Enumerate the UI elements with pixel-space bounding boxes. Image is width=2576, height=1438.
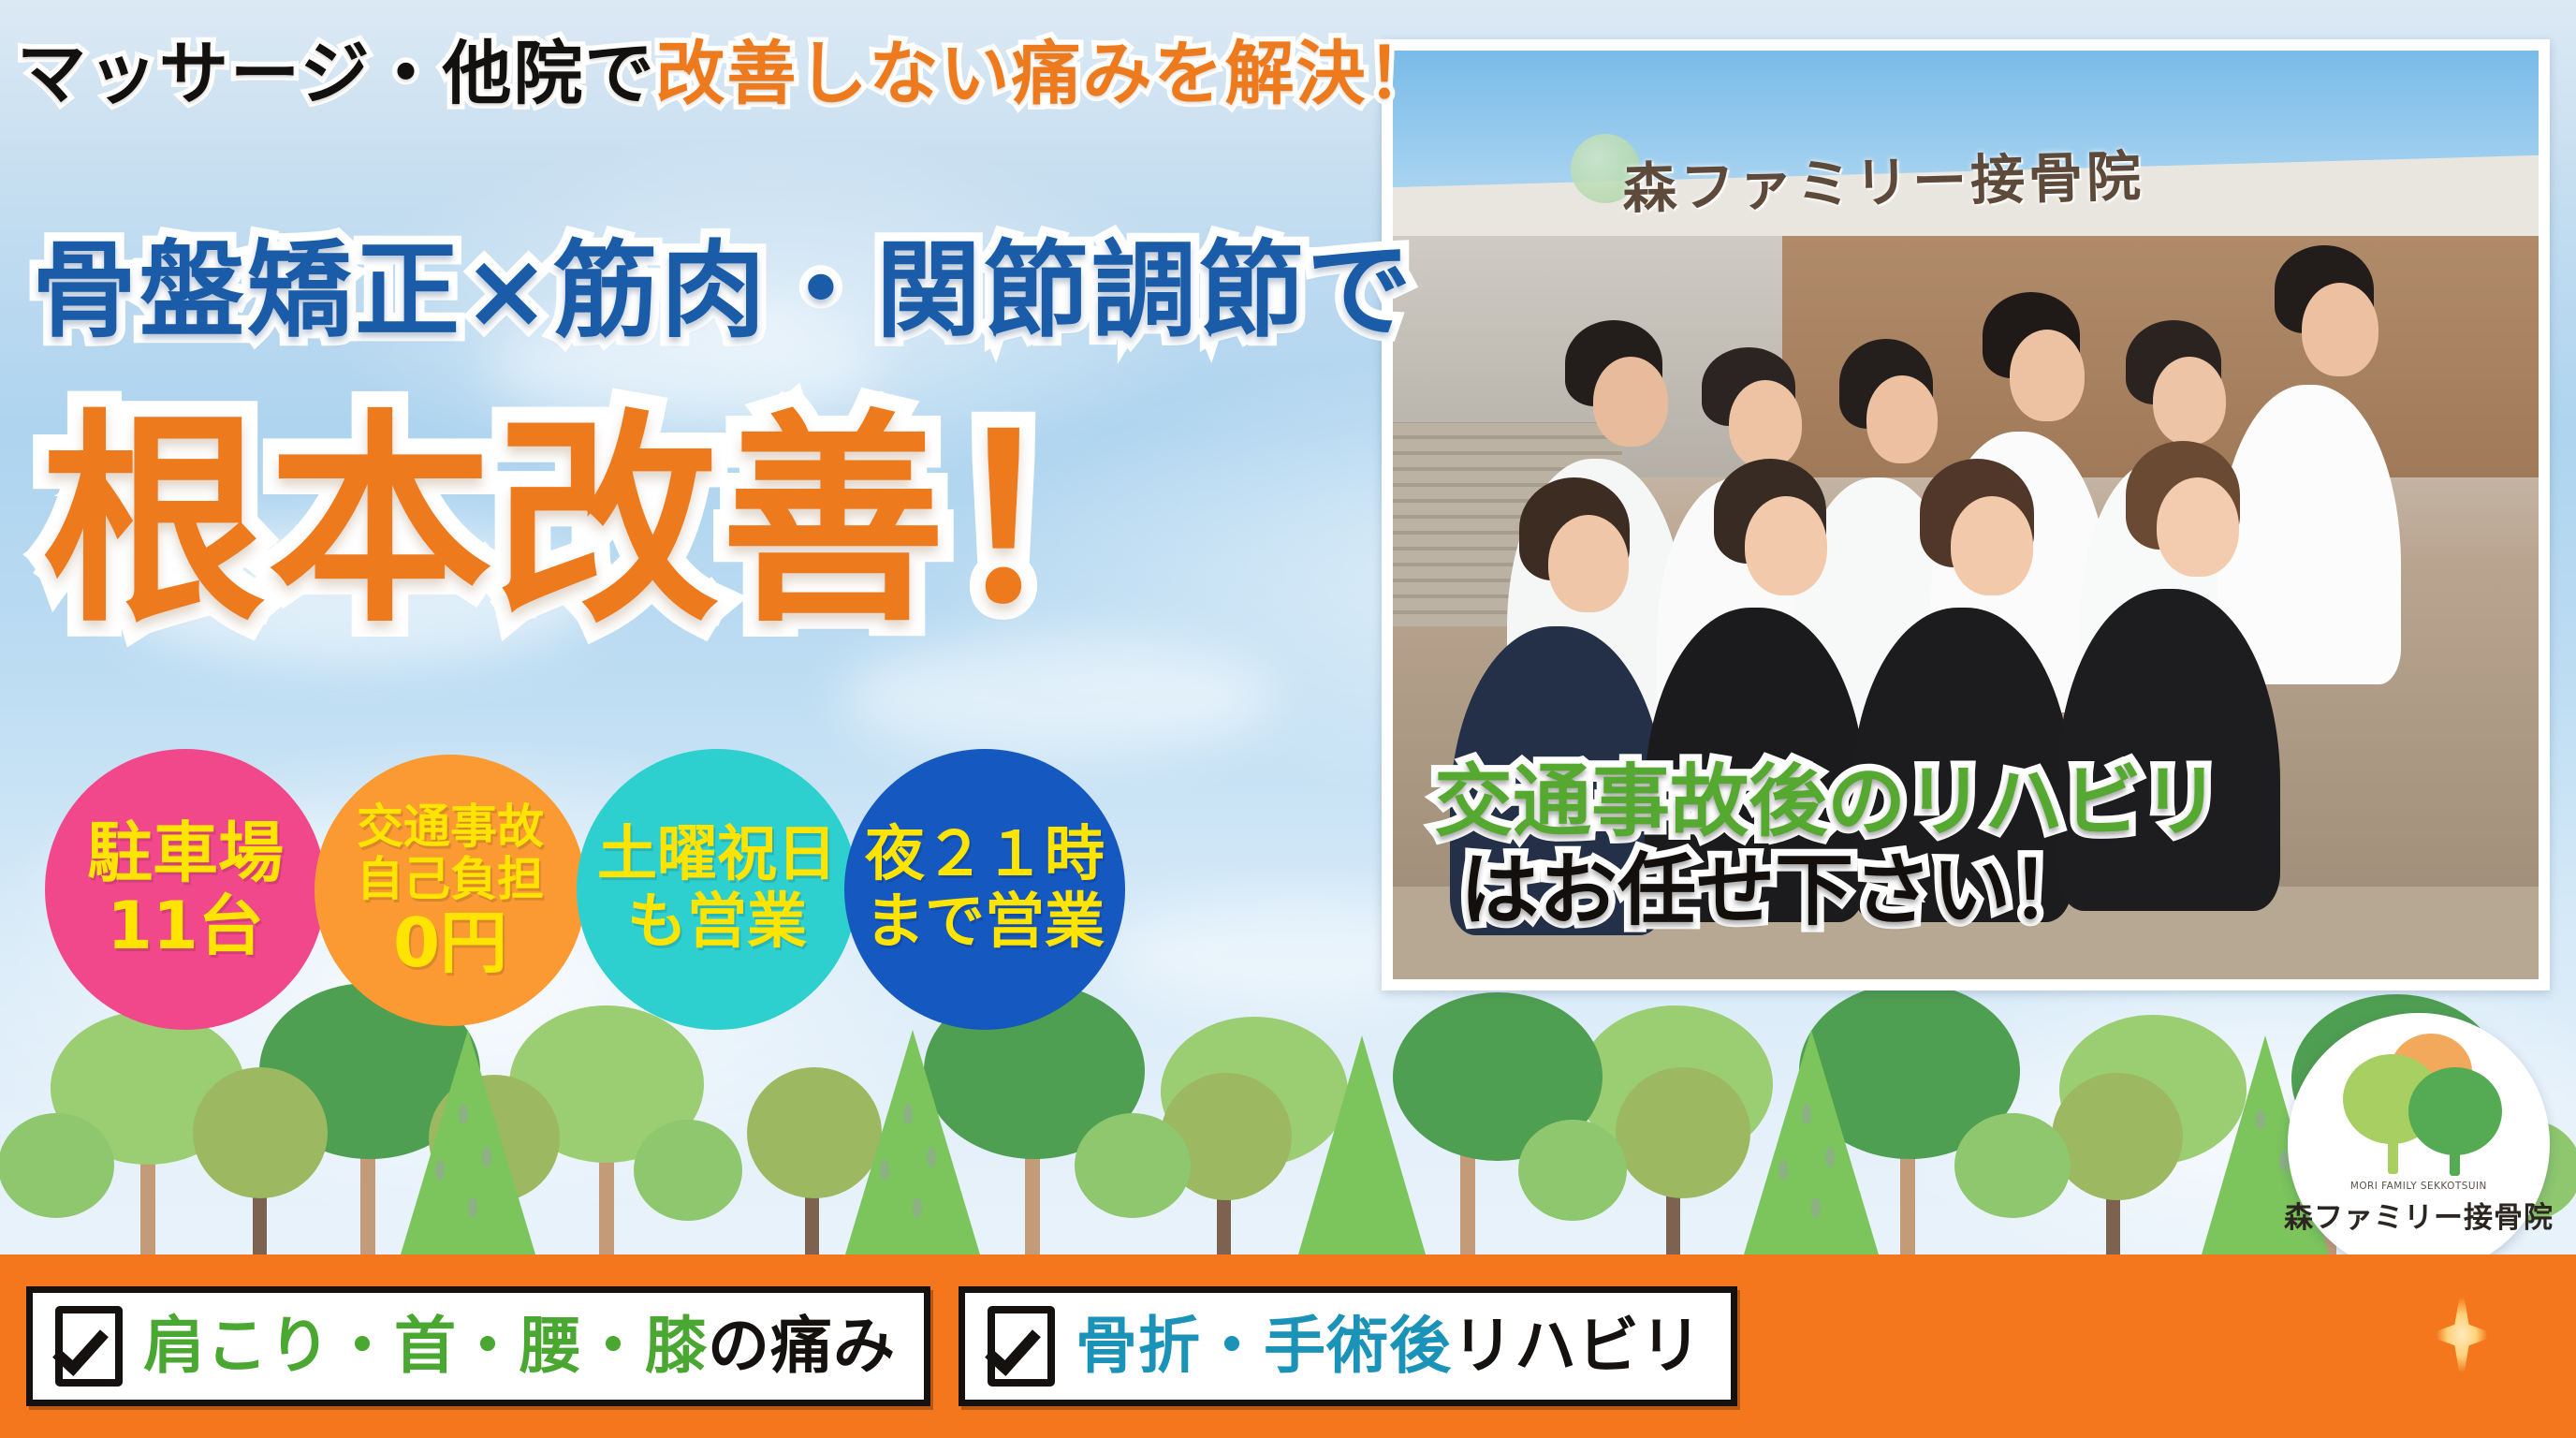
clinic-logo-badge: MORI FAMILY SEKKOTSUIN 森ファミリー接骨院 bbox=[2288, 1013, 2550, 1275]
badge-line: 夜２１時 bbox=[865, 822, 1105, 889]
staff-photo-frame: 森ファミリー接骨院 bbox=[1382, 39, 2550, 990]
badge-line: まで営業 bbox=[865, 889, 1105, 957]
staff-head bbox=[1745, 496, 1827, 595]
staff-head bbox=[2010, 330, 2085, 421]
chip-rehab-text: 骨折・手術後リハビリ bbox=[1076, 1315, 1703, 1377]
headline-line-1: マッサージ・他院で改善しない痛みを解決！ bbox=[17, 39, 1439, 109]
badge-line: 交通事故 bbox=[357, 800, 544, 853]
logo-romaji-text: MORI FAMILY SEKKOTSUIN bbox=[2350, 1180, 2487, 1192]
staff-head bbox=[1951, 496, 2033, 595]
chip-pain-accent: 肩こり・首・腰・膝 bbox=[143, 1310, 708, 1382]
feature-badges: 駐車場 11台 交通事故 自己負担 0円 土曜祝日 も営業 夜２１時 まで営業 bbox=[45, 749, 1125, 1030]
checkbox-checked-icon bbox=[988, 1306, 1055, 1387]
badge-line: 土曜祝日 bbox=[597, 822, 837, 889]
cloud-wisp bbox=[842, 637, 1273, 758]
chip-rehab-tail: リハビリ bbox=[1452, 1310, 1703, 1382]
staff-head bbox=[2153, 357, 2226, 445]
logo-tree-trunk bbox=[2388, 1138, 2398, 1174]
logo-clinic-name: 森ファミリー接骨院 bbox=[2284, 1194, 2554, 1236]
headline-line-2: 骨盤矯正×筋肉・関節調節で bbox=[32, 239, 1414, 344]
chip-rehab-accent: 骨折・手術後 bbox=[1076, 1310, 1452, 1382]
bottom-feature-bar: 肩こり・首・腰・膝の痛み 骨折・手術後リハビリ bbox=[0, 1255, 2576, 1438]
chip-rehab[interactable]: 骨折・手術後リハビリ bbox=[959, 1286, 1737, 1406]
photo-caption-black: はお任せ下さい！ bbox=[1460, 849, 2220, 932]
badge-line: 0円 bbox=[393, 905, 507, 981]
badge-line: も営業 bbox=[627, 889, 807, 957]
headline-line1-black-text: マッサージ・他院で bbox=[17, 34, 656, 114]
chip-pain-text: 肩こり・首・腰・膝の痛み bbox=[143, 1315, 896, 1377]
photo-caption-green: 交通事故後のリハビリ bbox=[1434, 760, 2220, 844]
badge-line: 11台 bbox=[107, 889, 263, 962]
logo-tree-green bbox=[2408, 1067, 2502, 1155]
badge-line: 自己負担 bbox=[357, 853, 544, 905]
sparkle-icon bbox=[2426, 1283, 2497, 1387]
badge-hours: 夜２１時 まで営業 bbox=[844, 749, 1125, 1030]
headline-line-3-main: 根本改善！ bbox=[41, 398, 1174, 645]
staff-head bbox=[1729, 380, 1802, 468]
badge-line: 駐車場 bbox=[87, 816, 284, 889]
logo-tree-icon bbox=[2330, 1034, 2508, 1174]
photo-caption: 交通事故後のリハビリ はお任せ下さい！ bbox=[1434, 760, 2220, 932]
chip-pain-tail: の痛み bbox=[708, 1310, 896, 1382]
badge-accident: 交通事故 自己負担 0円 bbox=[315, 755, 586, 1026]
staff-photo: 森ファミリー接骨院 bbox=[1393, 51, 2539, 979]
staff-head bbox=[1593, 357, 1668, 447]
staff-head bbox=[2157, 477, 2239, 577]
banner-root: マッサージ・他院で改善しない痛みを解決！ 骨盤矯正×筋肉・関節調節で 根本改善！… bbox=[0, 0, 2576, 1438]
badge-parking: 駐車場 11台 bbox=[45, 749, 326, 1030]
staff-head bbox=[1866, 375, 1938, 463]
badge-saturday: 土曜祝日 も営業 bbox=[577, 749, 857, 1030]
staff-head bbox=[2302, 283, 2378, 376]
logo-tree-trunk bbox=[2450, 1152, 2460, 1176]
headline-line1-orange-text: 改善しない痛みを解決！ bbox=[656, 34, 1439, 114]
staff-head bbox=[1548, 515, 1629, 612]
photo-building-sign-text: 森ファミリー接骨院 bbox=[1621, 132, 2145, 224]
chip-pain[interactable]: 肩こり・首・腰・膝の痛み bbox=[26, 1286, 930, 1406]
checkbox-checked-icon bbox=[55, 1306, 123, 1387]
